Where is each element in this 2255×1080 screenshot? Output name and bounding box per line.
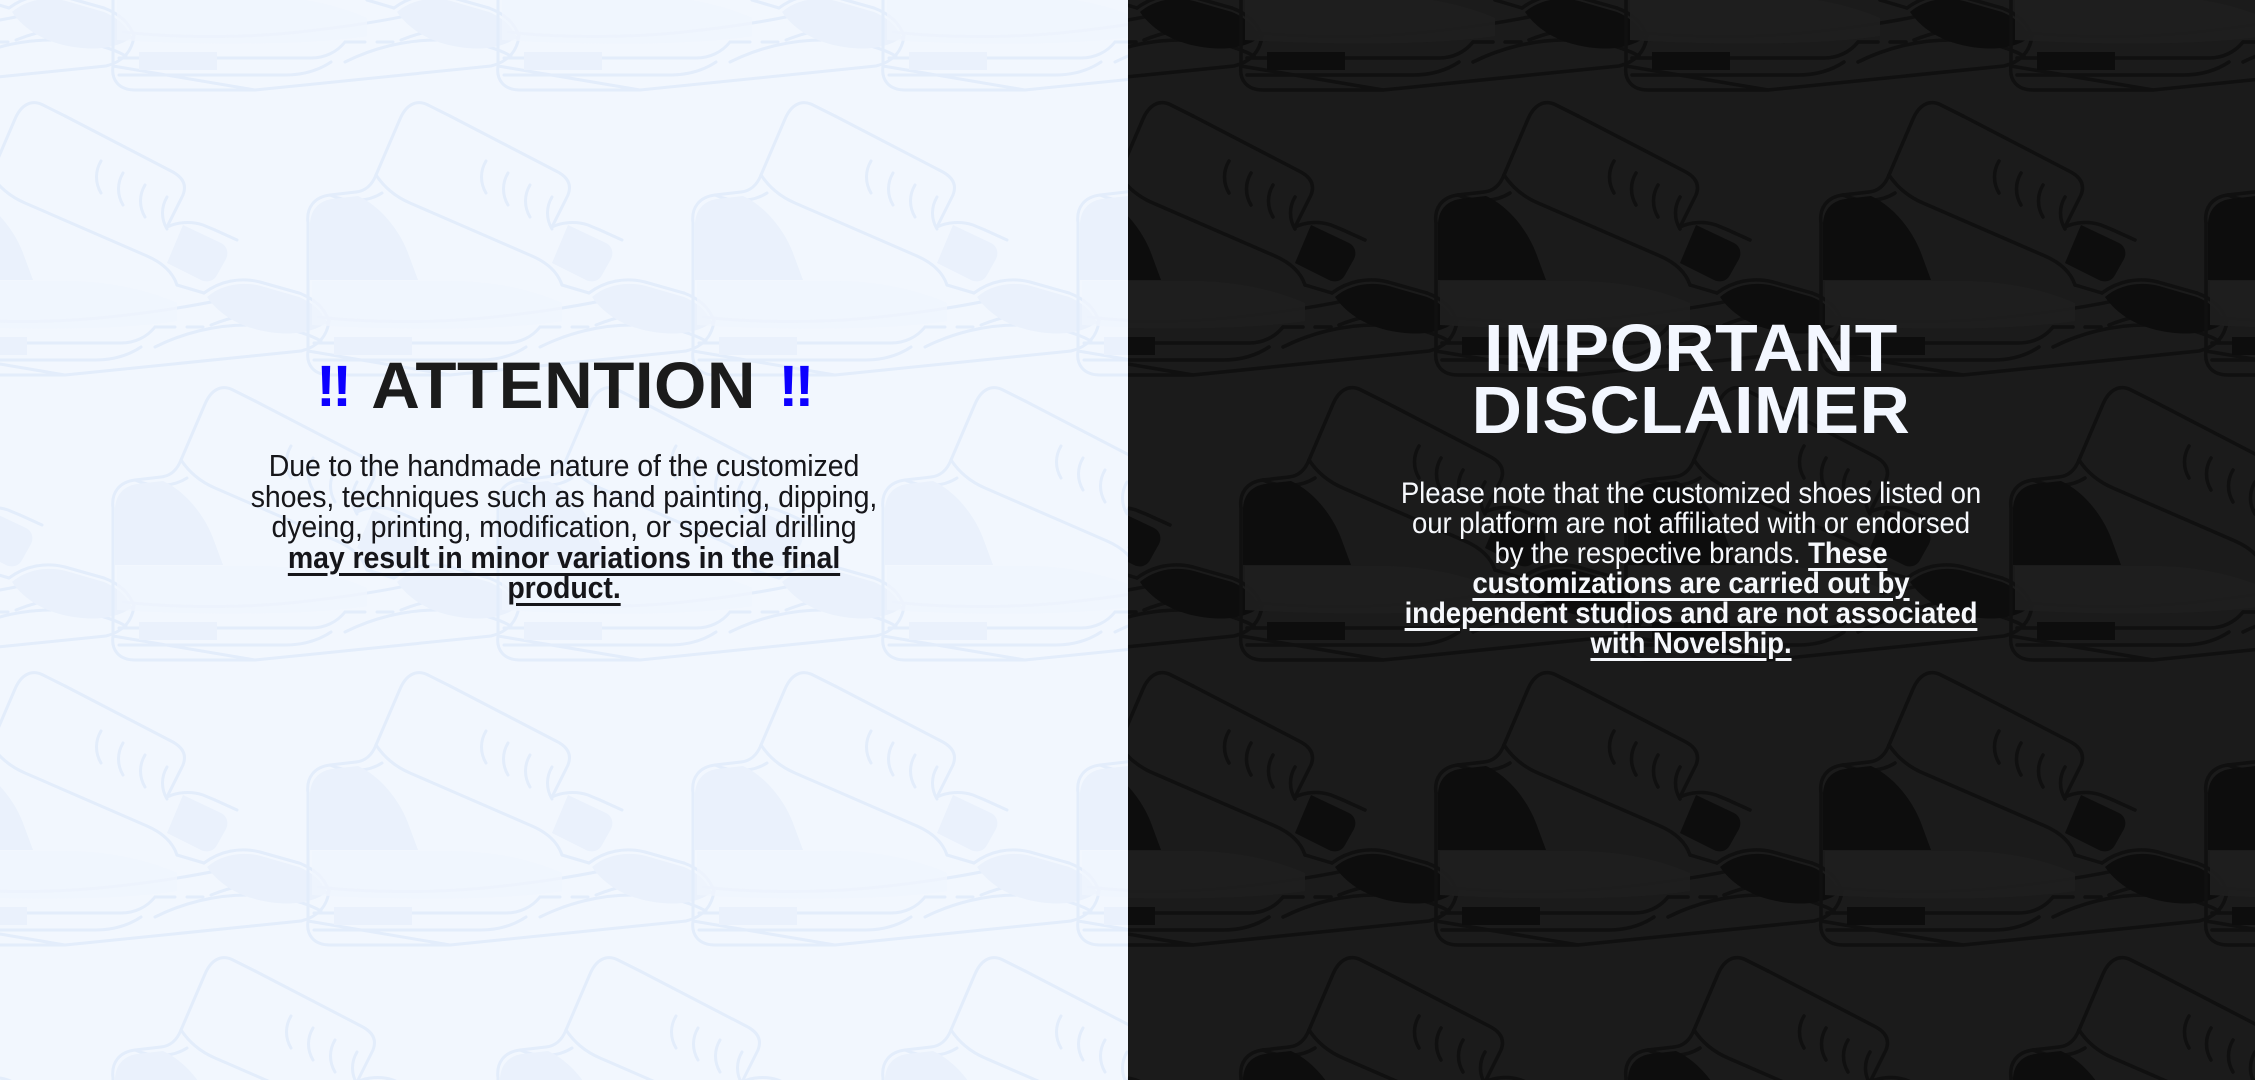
attention-panel: ‼ATTENTION‼ Due to the handmade nature o… [0,0,1128,1080]
attention-body: Due to the handmade nature of the custom… [242,451,886,604]
double-exclamation-right-icon: ‼ [779,354,812,419]
attention-body-emphasis: may result in minor variations in the fi… [288,540,840,606]
disclaimer-heading-line1: IMPORTANT [1327,318,2055,380]
attention-heading-word: ATTENTION [349,352,779,418]
double-exclamation-left-icon: ‼ [316,354,349,419]
disclaimer-banner: ‼ATTENTION‼ Due to the handmade nature o… [0,0,2255,1080]
disclaimer-heading: IMPORTANT DISCLAIMER [1327,318,2055,442]
attention-body-normal: Due to the handmade nature of the custom… [250,448,877,544]
disclaimer-panel: IMPORTANT DISCLAIMER Please note that th… [1128,0,2255,1080]
attention-heading: ‼ATTENTION‼ [316,352,811,418]
attention-content: ‼ATTENTION‼ Due to the handmade nature o… [0,0,1128,604]
disclaimer-heading-line2: DISCLAIMER [1327,380,2055,442]
disclaimer-body-normal: Please note that the customized shoes li… [1401,477,1981,570]
disclaimer-content: IMPORTANT DISCLAIMER Please note that th… [1128,0,2255,659]
disclaimer-body: Please note that the customized shoes li… [1397,479,1986,659]
